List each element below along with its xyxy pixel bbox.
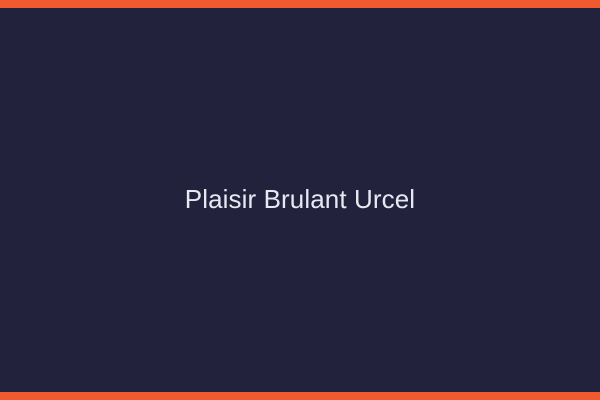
page-title: Plaisir Brulant Urcel <box>185 184 415 215</box>
top-accent-bar <box>0 0 600 8</box>
card-body: Plaisir Brulant Urcel <box>0 8 600 392</box>
placeholder-card: Plaisir Brulant Urcel <box>0 0 600 400</box>
bottom-accent-bar <box>0 392 600 400</box>
